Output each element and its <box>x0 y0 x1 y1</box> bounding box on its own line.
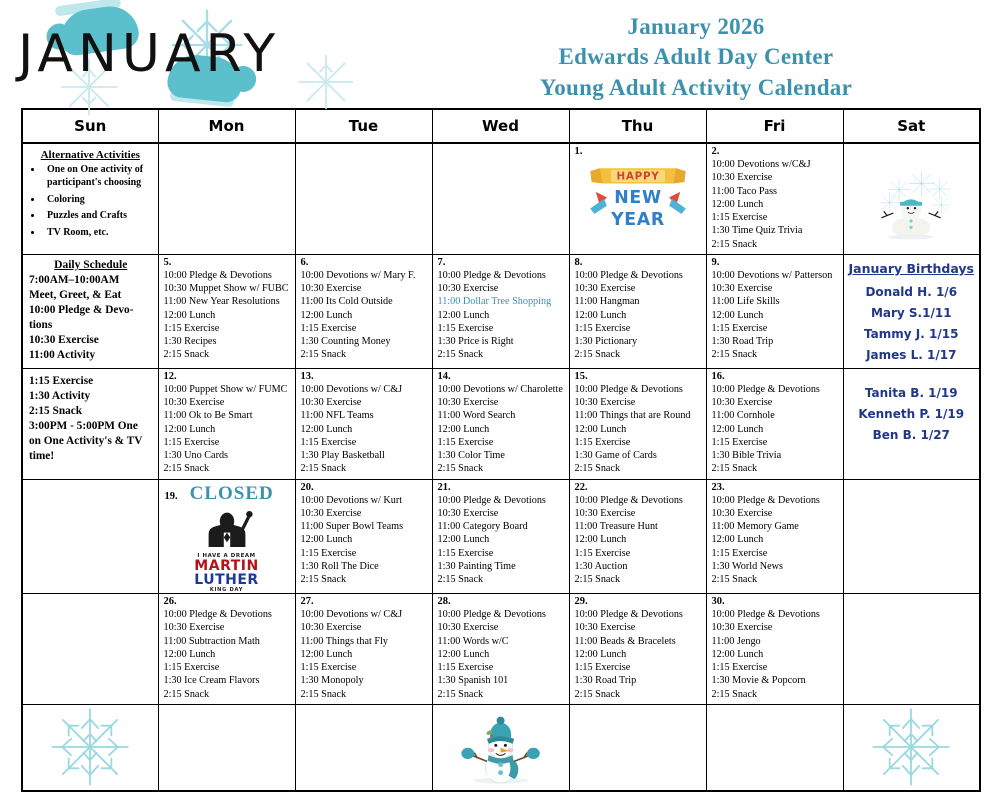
activity-list: 10:00 Pledge & Devotions 10:30 Muppet Sh… <box>159 269 295 365</box>
birthdays-cell-2: Tanita B. 1/19 Kenneth P. 1/19 Ben B. 1/… <box>843 368 980 479</box>
activity-item: 11:00 Taco Pass <box>712 185 843 198</box>
weekday-mon: Mon <box>158 109 295 143</box>
activity-item-highlighted: 11:00 Dollar Tree Shopping <box>438 295 569 308</box>
activity-item: 2:15 Snack <box>575 348 706 361</box>
activity-item: 12:00 Lunch <box>164 423 295 436</box>
activity-item: 2:15 Snack <box>438 462 569 475</box>
activity-item: 1:15 Exercise <box>712 547 843 560</box>
day-number: 29. <box>570 594 706 608</box>
activity-item: 12:00 Lunch <box>712 423 843 436</box>
birthday-entry: Mary S.1/11 <box>848 303 976 324</box>
activity-item: 10:30 Exercise <box>712 171 843 184</box>
birthdays-title: January Birthdays <box>848 261 976 276</box>
activity-item: 10:00 Pledge & Devotions <box>164 608 295 621</box>
activity-item: 10:00 Pledge & Devotions <box>712 383 843 396</box>
day-number: 9. <box>707 255 843 269</box>
activity-item: 1:15 Exercise <box>438 322 569 335</box>
activity-list: 10:00 Pledge & Devotions 10:30 Exercise … <box>707 383 843 479</box>
activity-item: 1:30 Recipes <box>164 335 295 348</box>
day-cell-21[interactable]: 21. 10:00 Pledge & Devotions 10:30 Exerc… <box>432 479 569 594</box>
activity-item: 10:00 Pledge & Devotions <box>438 494 569 507</box>
activity-item: 12:00 Lunch <box>712 309 843 322</box>
day-cell-26[interactable]: 26. 10:00 Pledge & Devotions 10:30 Exerc… <box>158 594 295 705</box>
activity-item: 1:30 Road Trip <box>575 674 706 687</box>
list-item: Coloring <box>43 194 154 207</box>
schedule-line: 2:15 Snack <box>29 404 153 419</box>
day-cell-16[interactable]: 16. 10:00 Pledge & Devotions 10:30 Exerc… <box>706 368 843 479</box>
activity-item: 2:15 Snack <box>301 573 432 586</box>
activity-list: 10:00 Puppet Show w/ FUMC 10:30 Exercise… <box>159 383 295 479</box>
activity-item: 10:00 Pledge & Devotions <box>575 383 706 396</box>
activity-item: 10:00 Devotions w/ Kurt <box>301 494 432 507</box>
page-header: JANUARY January 2026 Edwards Adult Day C… <box>0 0 1000 108</box>
day-cell-12[interactable]: 12. 10:00 Puppet Show w/ FUMC 10:30 Exer… <box>158 368 295 479</box>
activity-item: 10:00 Pledge & Devotions <box>712 608 843 621</box>
activity-item: 11:00 Ok to Be Smart <box>164 409 295 422</box>
activity-item: 1:30 Ice Cream Flavors <box>164 674 295 687</box>
day-cell-empty <box>22 479 158 594</box>
activity-item: 11:00 Words w/C <box>438 635 569 648</box>
activity-item: 1:15 Exercise <box>575 436 706 449</box>
activity-item: 10:00 Pledge & Devotions <box>575 494 706 507</box>
birthdays-cell-1: January Birthdays Donald H. 1/6 Mary S.1… <box>843 254 980 368</box>
calendar-grid: Sun Mon Tue Wed Thu Fri Sat Alternative … <box>21 108 981 792</box>
activity-item: 1:15 Exercise <box>301 436 432 449</box>
day-cell-1[interactable]: 1. HAPPY NEW YEAR <box>569 143 706 254</box>
weekday-sat: Sat <box>843 109 980 143</box>
activity-item: 1:30 Auction <box>575 560 706 573</box>
activity-item: 2:15 Snack <box>712 348 843 361</box>
activity-item: 1:15 Exercise <box>575 547 706 560</box>
activity-item: 12:00 Lunch <box>712 533 843 546</box>
activity-list: 10:00 Pledge & Devotions 10:30 Exercise … <box>433 608 569 704</box>
day-cell-29[interactable]: 29. 10:00 Pledge & Devotions 10:30 Exerc… <box>569 594 706 705</box>
day-cell-22[interactable]: 22. 10:00 Pledge & Devotions 10:30 Exerc… <box>569 479 706 594</box>
activity-item: 10:30 Exercise <box>164 621 295 634</box>
day-number: 2. <box>707 144 843 158</box>
day-cell-empty <box>432 143 569 254</box>
svg-text:NEW: NEW <box>614 188 661 208</box>
calendar-week-6-decorative <box>22 704 980 791</box>
day-cell-14[interactable]: 14. 10:00 Devotions w/ Charolette 10:30 … <box>432 368 569 479</box>
schedule-line: 11:00 Activity <box>29 348 153 363</box>
activity-item: 2:15 Snack <box>712 688 843 701</box>
activity-item: 10:30 Exercise <box>575 282 706 295</box>
activity-item: 11:00 Its Cold Outside <box>301 295 432 308</box>
svg-text:YEAR: YEAR <box>610 210 665 230</box>
activity-item: 2:15 Snack <box>712 573 843 586</box>
calendar-week-4: 19. CLOSED I H <box>22 479 980 594</box>
activity-item: 1:15 Exercise <box>712 436 843 449</box>
activity-item: 12:00 Lunch <box>575 648 706 661</box>
activity-item: 2:15 Snack <box>438 573 569 586</box>
snowman-icon <box>447 707 555 787</box>
activity-item: 10:00 Pledge & Devotions <box>164 269 295 282</box>
day-number: 15. <box>570 369 706 383</box>
activity-item: 1:15 Exercise <box>301 547 432 560</box>
activity-item: 10:30 Exercise <box>712 282 843 295</box>
alt-activities-title: Alternative Activities <box>27 149 154 161</box>
activity-item: 2:15 Snack <box>164 688 295 701</box>
activity-item: 10:30 Exercise <box>438 621 569 634</box>
activity-item: 1:30 Roll The Dice <box>301 560 432 573</box>
activity-item: 11:00 NFL Teams <box>301 409 432 422</box>
day-number: 21. <box>433 480 569 494</box>
activity-item: 2:15 Snack <box>438 348 569 361</box>
activity-list: 10:00 Pledge & Devotions 10:30 Exercise … <box>707 608 843 704</box>
activity-item: 10:00 Pledge & Devotions <box>712 494 843 507</box>
weekday-wed: Wed <box>432 109 569 143</box>
activity-item: 1:30 Road Trip <box>712 335 843 348</box>
activity-item: 10:30 Muppet Show w/ FUBC <box>164 282 295 295</box>
activity-list: 10:00 Pledge & Devotions 10:30 Exercise … <box>570 383 706 479</box>
day-number: 20. <box>296 480 432 494</box>
activity-item: 1:30 Counting Money <box>301 335 432 348</box>
activity-item: 12:00 Lunch <box>301 309 432 322</box>
title-line-2: Edwards Adult Day Center <box>420 42 972 72</box>
activity-list: 10:00 Pledge & Devotions 10:30 Exercise … <box>570 269 706 365</box>
birthday-entry: Kenneth P. 1/19 <box>848 404 976 425</box>
activity-item: 10:30 Exercise <box>575 507 706 520</box>
activity-item: 10:00 Devotions w/ Patterson <box>712 269 843 282</box>
title-line-3: Young Adult Activity Calendar <box>420 73 972 103</box>
calendar-page: JANUARY January 2026 Edwards Adult Day C… <box>0 0 1000 773</box>
schedule-line: Meet, Greet, & Eat <box>29 288 153 303</box>
activity-item: 10:00 Puppet Show w/ FUMC <box>164 383 295 396</box>
activity-item: 11:00 Subtraction Math <box>164 635 295 648</box>
schedule-line: tions <box>29 318 153 333</box>
activity-item: 1:15 Exercise <box>164 322 295 335</box>
activity-item: 10:30 Exercise <box>301 282 432 295</box>
activity-item: 11:00 Cornhole <box>712 409 843 422</box>
activity-item: 12:00 Lunch <box>301 648 432 661</box>
activity-item: 10:00 Devotions w/ Mary F. <box>301 269 432 282</box>
day-cell-19-closed[interactable]: 19. CLOSED I H <box>158 479 295 594</box>
mlk-line-3: KING DAY <box>188 587 266 593</box>
activity-item: 11:00 Super Bowl Teams <box>301 520 432 533</box>
activity-item: 1:30 Movie & Popcorn <box>712 674 843 687</box>
activity-item: 11:00 Things that Fly <box>301 635 432 648</box>
birthday-entry: Tammy J. 1/15 <box>848 324 976 345</box>
day-cell-13[interactable]: 13. 10:00 Devotions w/ C&J 10:30 Exercis… <box>295 368 432 479</box>
activity-item: 11:00 Category Board <box>438 520 569 533</box>
day-number: 5. <box>159 255 295 269</box>
activity-item: 12:00 Lunch <box>575 309 706 322</box>
activity-item: 12:00 Lunch <box>438 423 569 436</box>
schedule-line: time! <box>29 449 153 464</box>
activity-item: 1:15 Exercise <box>301 322 432 335</box>
activity-item: 10:00 Pledge & Devotions <box>438 269 569 282</box>
activity-item: 1:30 Painting Time <box>438 560 569 573</box>
activity-item: 11:00 Life Skills <box>712 295 843 308</box>
footer-empty-cell <box>158 704 295 791</box>
activity-item: 10:30 Exercise <box>712 507 843 520</box>
schedule-line: 10:30 Exercise <box>29 333 153 348</box>
day-number: 26. <box>159 594 295 608</box>
alt-activities-list: One on One activity of participant's cho… <box>27 164 154 240</box>
activity-item: 12:00 Lunch <box>712 648 843 661</box>
day-cell-30[interactable]: 30. 10:00 Pledge & Devotions 10:30 Exerc… <box>706 594 843 705</box>
snowman-snowflakes-icon <box>844 144 980 254</box>
svg-text:HAPPY: HAPPY <box>616 170 659 182</box>
calendar-title: January 2026 Edwards Adult Day Center Yo… <box>420 0 1000 103</box>
day-cell-6[interactable]: 6. 10:00 Devotions w/ Mary F. 10:30 Exer… <box>295 254 432 368</box>
activity-item: 12:00 Lunch <box>712 198 843 211</box>
mlk-day-icon: I HAVE A DREAM MARTIN LUTHER KING DAY <box>188 507 266 594</box>
weekday-header-row: Sun Mon Tue Wed Thu Fri Sat <box>22 109 980 143</box>
snowflake-icon <box>49 706 131 788</box>
activity-item: 10:30 Exercise <box>301 621 432 634</box>
footer-snowman-cell <box>432 704 569 791</box>
activity-list: 10:00 Pledge & Devotions 10:30 Exercise … <box>159 608 295 704</box>
day-cell-empty <box>295 143 432 254</box>
activity-item: 1:15 Exercise <box>164 436 295 449</box>
activity-item: 11:00 Things that are Round <box>575 409 706 422</box>
day-cell-empty <box>843 479 980 594</box>
activity-item: 1:15 Exercise <box>438 661 569 674</box>
list-item: TV Room, etc. <box>43 227 154 240</box>
day-cell-3[interactable] <box>843 143 980 254</box>
mlk-line-1: MARTIN <box>188 559 266 573</box>
footer-empty-cell <box>706 704 843 791</box>
day-cell-20[interactable]: 20. 10:00 Devotions w/ Kurt 10:30 Exerci… <box>295 479 432 594</box>
activity-item: 10:30 Exercise <box>575 396 706 409</box>
footer-empty-cell <box>295 704 432 791</box>
schedule-line: 10:00 Pledge & Devo- <box>29 303 153 318</box>
activity-item: 1:15 Exercise <box>575 661 706 674</box>
activity-item: 1:30 Game of Cards <box>575 449 706 462</box>
day-number: 8. <box>570 255 706 269</box>
activity-item: 10:30 Exercise <box>438 282 569 295</box>
day-cell-28[interactable]: 28. 10:00 Pledge & Devotions 10:30 Exerc… <box>432 594 569 705</box>
activity-item: 2:15 Snack <box>575 688 706 701</box>
day-cell-23[interactable]: 23. 10:00 Pledge & Devotions 10:30 Exerc… <box>706 479 843 594</box>
activity-list: 10:00 Pledge & Devotions 10:30 Exercise … <box>707 494 843 590</box>
day-number: 13. <box>296 369 432 383</box>
activity-item: 10:30 Exercise <box>712 396 843 409</box>
day-number: 12. <box>159 369 295 383</box>
closed-label: CLOSED <box>190 483 274 505</box>
activity-item: 1:15 Exercise <box>164 661 295 674</box>
activity-item: 1:15 Exercise <box>438 547 569 560</box>
day-cell-empty <box>158 143 295 254</box>
schedule-line: on One Activity's & TV <box>29 434 153 449</box>
activity-item: 1:15 Exercise <box>712 322 843 335</box>
activity-item: 11:00 Memory Game <box>712 520 843 533</box>
happy-new-year-icon: HAPPY NEW YEAR <box>570 158 706 237</box>
activity-item: 1:15 Exercise <box>438 436 569 449</box>
activity-item: 10:00 Pledge & Devotions <box>575 269 706 282</box>
day-cell-7[interactable]: 7. 10:00 Pledge & Devotions 10:30 Exerci… <box>432 254 569 368</box>
activity-item: 10:30 Exercise <box>438 507 569 520</box>
activity-item: 2:15 Snack <box>301 462 432 475</box>
activity-list: 10:00 Devotions w/ C&J 10:30 Exercise 11… <box>296 608 432 704</box>
calendar-week-3: 1:15 Exercise 1:30 Activity 2:15 Snack 3… <box>22 368 980 479</box>
alternative-activities-cell: Alternative Activities One on One activi… <box>22 143 158 254</box>
list-item: One on One activity of participant's cho… <box>43 164 154 190</box>
activity-item: 1:15 Exercise <box>712 211 843 224</box>
snowflake-icon <box>296 52 356 112</box>
activity-list: 10:00 Devotions w/ Mary F. 10:30 Exercis… <box>296 269 432 365</box>
activity-item: 1:30 Bible Trivia <box>712 449 843 462</box>
activity-item: 11:00 Hangman <box>575 295 706 308</box>
activity-item: 12:00 Lunch <box>164 309 295 322</box>
schedule-line: 1:15 Exercise <box>29 374 153 389</box>
day-cell-5[interactable]: 5. 10:00 Pledge & Devotions 10:30 Muppet… <box>158 254 295 368</box>
day-number: 22. <box>570 480 706 494</box>
activity-item: 12:00 Lunch <box>438 648 569 661</box>
footer-snowflake-right-cell <box>843 704 980 791</box>
activity-item: 10:30 Exercise <box>301 507 432 520</box>
activity-item: 10:30 Exercise <box>164 396 295 409</box>
activity-list: 10:00 Pledge & Devotions 10:30 Exercise … <box>570 494 706 590</box>
day-cell-empty <box>22 594 158 705</box>
schedule-line: 3:00PM - 5:00PM One <box>29 419 153 434</box>
activity-item: 2:15 Snack <box>575 462 706 475</box>
activity-item: 12:00 Lunch <box>438 533 569 546</box>
day-number: 28. <box>433 594 569 608</box>
activity-item: 2:15 Snack <box>164 348 295 361</box>
weekday-tue: Tue <box>295 109 432 143</box>
activity-item: 10:00 Devotions w/ C&J <box>301 383 432 396</box>
activity-list: 10:00 Devotions w/ Charolette 10:30 Exer… <box>433 383 569 479</box>
activity-item: 2:15 Snack <box>301 688 432 701</box>
day-number: 27. <box>296 594 432 608</box>
activity-item: 1:30 Color Time <box>438 449 569 462</box>
birthday-entry: Donald H. 1/6 <box>848 282 976 303</box>
activity-list: 10:00 Devotions w/ Kurt 10:30 Exercise 1… <box>296 494 432 590</box>
activity-item: 10:30 Exercise <box>712 621 843 634</box>
month-wordmark: JANUARY <box>18 24 280 84</box>
footer-snowflake-left-cell <box>22 704 158 791</box>
activity-item: 1:15 Exercise <box>575 322 706 335</box>
activity-item: 1:15 Exercise <box>301 661 432 674</box>
activity-item: 10:30 Exercise <box>301 396 432 409</box>
activity-item: 2:15 Snack <box>575 573 706 586</box>
activity-list: 10:00 Devotions w/ C&J 10:30 Exercise 11… <box>296 383 432 479</box>
january-logo: JANUARY <box>0 0 420 108</box>
list-item: Puzzles and Crafts <box>43 210 154 223</box>
activity-item: 12:00 Lunch <box>301 533 432 546</box>
daily-schedule-title: Daily Schedule <box>29 259 153 271</box>
activity-item: 1:30 Play Basketball <box>301 449 432 462</box>
activity-item: 11:00 Treasure Hunt <box>575 520 706 533</box>
activity-item: 10:30 Exercise <box>575 621 706 634</box>
activity-item: 10:00 Pledge & Devotions <box>575 608 706 621</box>
activity-item: 1:30 Price is Right <box>438 335 569 348</box>
day-cell-8[interactable]: 8. 10:00 Pledge & Devotions 10:30 Exerci… <box>569 254 706 368</box>
activity-item: 12:00 Lunch <box>575 533 706 546</box>
activity-list: 10:00 Pledge & Devotions 10:30 Exercise … <box>570 608 706 704</box>
day-number: 16. <box>707 369 843 383</box>
activity-item: 11:00 New Year Resolutions <box>164 295 295 308</box>
day-number: 19. <box>165 491 178 503</box>
day-cell-27[interactable]: 27. 10:00 Devotions w/ C&J 10:30 Exercis… <box>295 594 432 705</box>
day-number: 1. <box>570 144 706 158</box>
activity-item: 10:00 Pledge & Devotions <box>438 608 569 621</box>
calendar-week-2: Daily Schedule 7:00AM–10:00AM Meet, Gree… <box>22 254 980 368</box>
activity-item: 1:30 Spanish 101 <box>438 674 569 687</box>
activity-item: 12:00 Lunch <box>575 423 706 436</box>
activity-item: 12:00 Lunch <box>301 423 432 436</box>
activity-item: 10:00 Devotions w/C&J <box>712 158 843 171</box>
activity-item: 10:30 Exercise <box>438 396 569 409</box>
activity-item: 1:30 World News <box>712 560 843 573</box>
activity-list: 10:00 Devotions w/C&J 10:30 Exercise 11:… <box>707 158 843 254</box>
day-number: 23. <box>707 480 843 494</box>
day-number: 7. <box>433 255 569 269</box>
daily-schedule-cell: Daily Schedule 7:00AM–10:00AM Meet, Gree… <box>22 254 158 368</box>
snowflake-icon <box>870 706 952 788</box>
activity-list: 10:00 Pledge & Devotions 10:30 Exercise … <box>433 269 569 365</box>
afternoon-schedule-cell: 1:15 Exercise 1:30 Activity 2:15 Snack 3… <box>22 368 158 479</box>
activity-list: 10:00 Pledge & Devotions 10:30 Exercise … <box>433 494 569 590</box>
footer-empty-cell <box>569 704 706 791</box>
day-number: 6. <box>296 255 432 269</box>
day-cell-2[interactable]: 2. 10:00 Devotions w/C&J 10:30 Exercise … <box>706 143 843 254</box>
calendar-week-5: 26. 10:00 Pledge & Devotions 10:30 Exerc… <box>22 594 980 705</box>
activity-item: 12:00 Lunch <box>164 648 295 661</box>
activity-item: 2:15 Snack <box>164 462 295 475</box>
activity-item: 1:30 Monopoly <box>301 674 432 687</box>
activity-item: 2:15 Snack <box>712 462 843 475</box>
day-number: 30. <box>707 594 843 608</box>
activity-item: 10:00 Devotions w/ Charolette <box>438 383 569 396</box>
calendar-week-1: Alternative Activities One on One activi… <box>22 143 980 254</box>
weekday-thu: Thu <box>569 109 706 143</box>
weekday-fri: Fri <box>706 109 843 143</box>
activity-item: 11:00 Beads & Bracelets <box>575 635 706 648</box>
activity-item: 10:00 Devotions w/ C&J <box>301 608 432 621</box>
day-cell-empty <box>843 594 980 705</box>
activity-item: 2:15 Snack <box>301 348 432 361</box>
activity-item: 11:00 Word Search <box>438 409 569 422</box>
activity-item: 1:15 Exercise <box>712 661 843 674</box>
activity-item: 12:00 Lunch <box>438 309 569 322</box>
title-line-1: January 2026 <box>420 12 972 42</box>
activity-item: 1:30 Pictionary <box>575 335 706 348</box>
schedule-line: 1:30 Activity <box>29 389 153 404</box>
day-cell-9[interactable]: 9. 10:00 Devotions w/ Patterson 10:30 Ex… <box>706 254 843 368</box>
schedule-line: 7:00AM–10:00AM <box>29 273 153 288</box>
birthday-entry: Tanita B. 1/19 <box>848 383 976 404</box>
day-cell-15[interactable]: 15. 10:00 Pledge & Devotions 10:30 Exerc… <box>569 368 706 479</box>
activity-item: 1:30 Time Quiz Trivia <box>712 224 843 237</box>
activity-item: 1:30 Uno Cards <box>164 449 295 462</box>
activity-item: 11:00 Jengo <box>712 635 843 648</box>
activity-list: 10:00 Devotions w/ Patterson 10:30 Exerc… <box>707 269 843 365</box>
mlk-line-2: LUTHER <box>188 573 266 587</box>
activity-item: 2:15 Snack <box>438 688 569 701</box>
birthday-entry: Ben B. 1/27 <box>848 425 976 446</box>
day-number: 14. <box>433 369 569 383</box>
activity-item: 2:15 Snack <box>712 238 843 251</box>
birthday-entry: James L. 1/17 <box>848 345 976 366</box>
